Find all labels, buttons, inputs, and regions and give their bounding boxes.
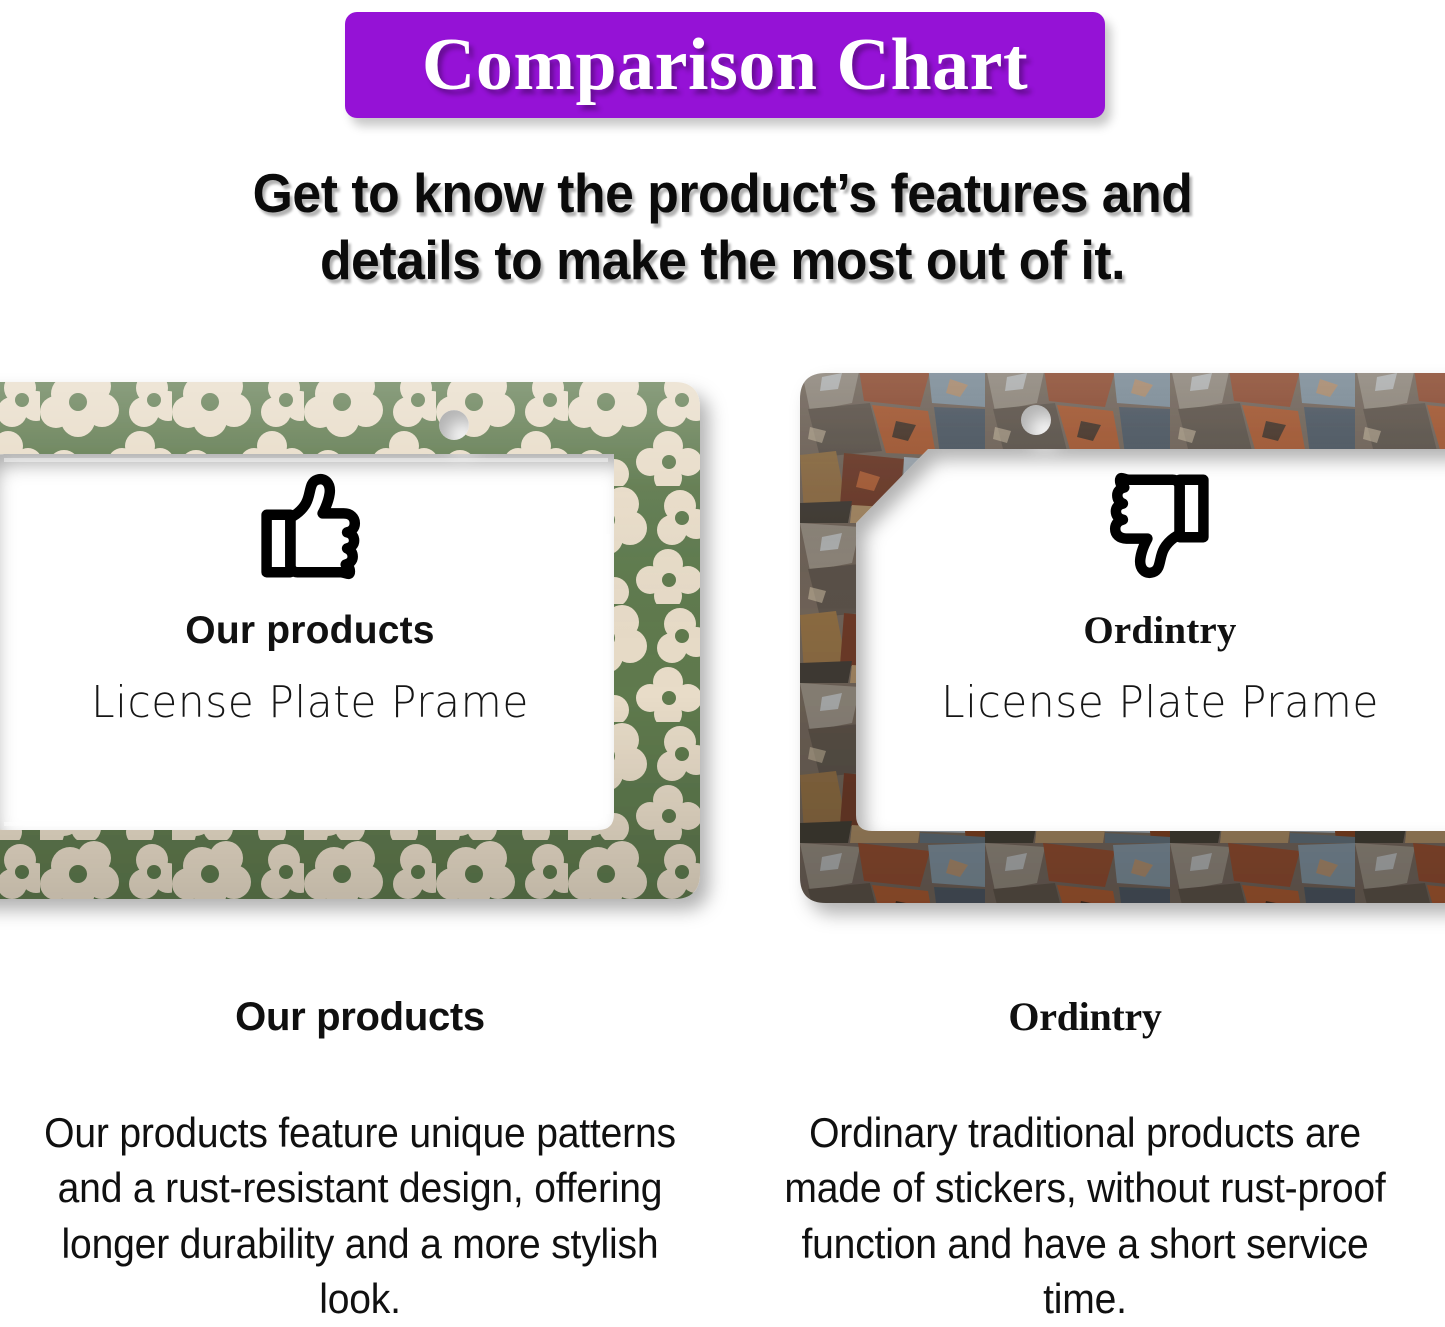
our-product-plate-content: Our products License Plate Prame: [0, 470, 620, 727]
ordinary-product-description-column: Ordintry Ordinary traditional products a…: [735, 995, 1435, 1327]
our-product-plate-sublabel: License Plate Prame: [12, 679, 607, 727]
our-product-plate-label: Our products: [0, 610, 620, 653]
ordinary-product-description-body: Ordinary traditional products are made o…: [760, 1105, 1411, 1327]
subtitle-line-1: Get to know the product’s features and: [43, 160, 1401, 227]
thumbs-down-icon: [1104, 470, 1216, 582]
thumbs-up-icon: [254, 470, 366, 582]
ordinary-product-plate-sublabel: License Plate Prame: [862, 679, 1445, 727]
page-subtitle: Get to know the product’s features and d…: [43, 160, 1401, 294]
subtitle-line-2: details to make the most out of it.: [43, 227, 1401, 294]
our-product-description-body: Our products feature unique patterns and…: [35, 1105, 686, 1327]
ordinary-product-description-heading: Ordintry: [735, 995, 1435, 1039]
comparison-chart-banner: Comparison Chart: [345, 12, 1105, 118]
ordinary-product-plate-content: Ordintry License Plate Prame: [850, 470, 1445, 727]
our-product-description-column: Our products Our products feature unique…: [10, 995, 710, 1327]
our-product-description-heading: Our products: [10, 995, 710, 1039]
page-title: Comparison Chart: [422, 28, 1028, 102]
ordinary-product-plate-label: Ordintry: [850, 610, 1445, 653]
